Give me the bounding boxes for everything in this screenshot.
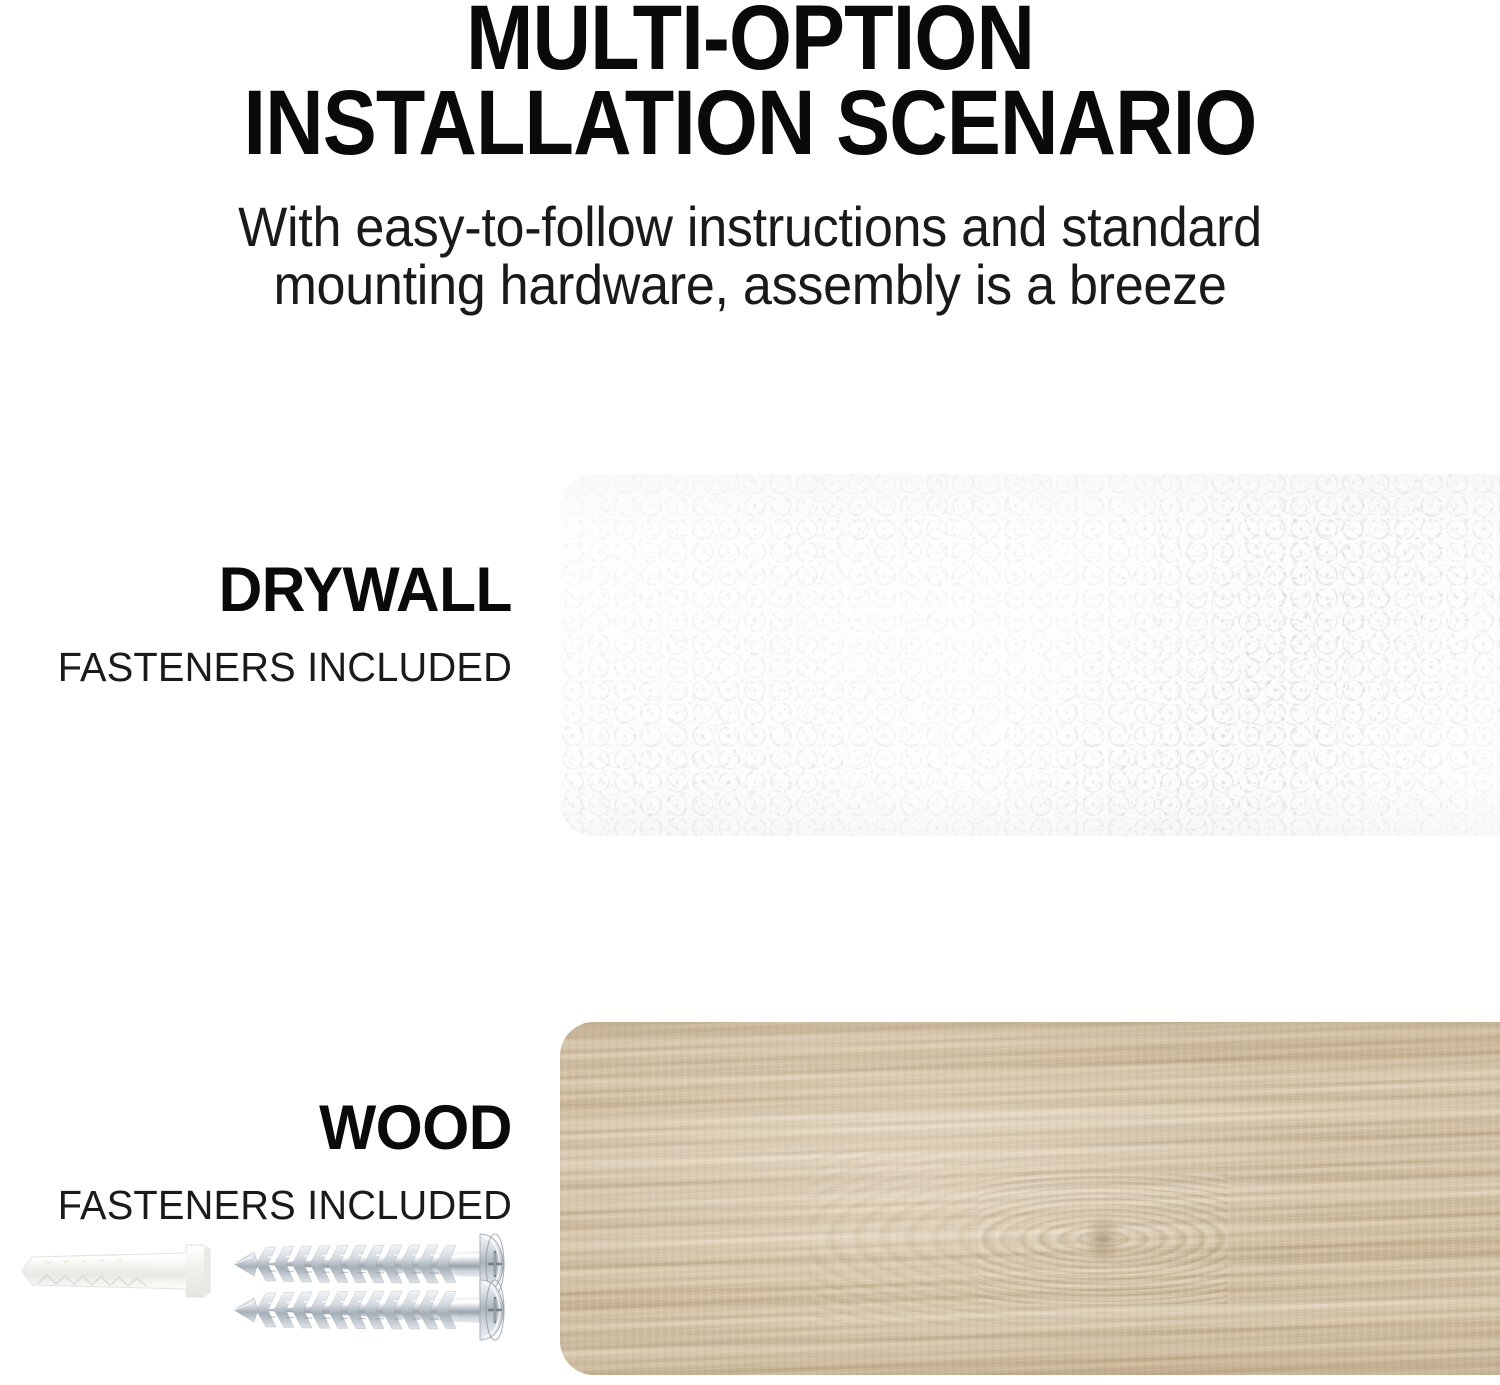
page-title-line-1: MULTI-OPTION (90, 0, 1410, 80)
drywall-shading-layer (560, 474, 1500, 836)
drywall-texture-panel (560, 474, 1500, 836)
wood-label-block: WOOD FASTENERS INCLUDED (0, 1097, 512, 1226)
wood-shading-layer (560, 1022, 1500, 1375)
drywall-fasteners-included-text: FASTENERS INCLUDED (15, 647, 512, 688)
screw-icon (232, 1270, 520, 1350)
header: MULTI-OPTION INSTALLATION SCENARIO With … (0, 0, 1500, 330)
installation-scenario-infographic: MULTI-OPTION INSTALLATION SCENARIO With … (0, 0, 1500, 1385)
wood-texture-panel (560, 1022, 1500, 1375)
page-subtitle-line-1: With easy-to-follow instructions and sta… (53, 198, 1448, 255)
drywall-material-name: DRYWALL (20, 559, 512, 622)
page-title-line-2: INSTALLATION SCENARIO (90, 82, 1410, 165)
page-subtitle-line-2: mounting hardware, assembly is a breeze (53, 256, 1448, 313)
wood-material-name: WOOD (20, 1097, 512, 1160)
drywall-label-block: DRYWALL FASTENERS INCLUDED (0, 559, 512, 688)
wood-section: WOOD FASTENERS INCLUDED (0, 1022, 1500, 1385)
drywall-section: DRYWALL FASTENERS INCLUDED (0, 474, 1500, 836)
wood-fasteners-included-text: FASTENERS INCLUDED (15, 1185, 512, 1226)
